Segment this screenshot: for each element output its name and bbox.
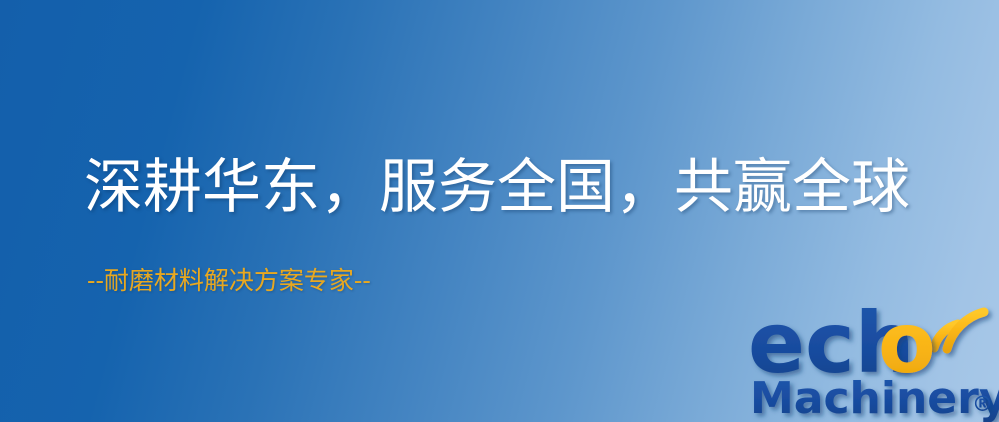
registered-trademark-icon: ®	[972, 392, 993, 416]
logo-text-machinery: Machinery	[750, 373, 999, 422]
banner-subtitle: --耐磨材料解决方案专家--	[87, 268, 371, 293]
banner-headline: 深耕华东，服务全国，共赢全球	[84, 157, 910, 216]
promo-banner: 深耕华东，服务全国，共赢全球 --耐磨材料解决方案专家--	[0, 0, 999, 422]
echo-machinery-logo[interactable]: ech o Machinery ®	[748, 296, 999, 422]
echo-wave-arcs	[934, 312, 984, 349]
